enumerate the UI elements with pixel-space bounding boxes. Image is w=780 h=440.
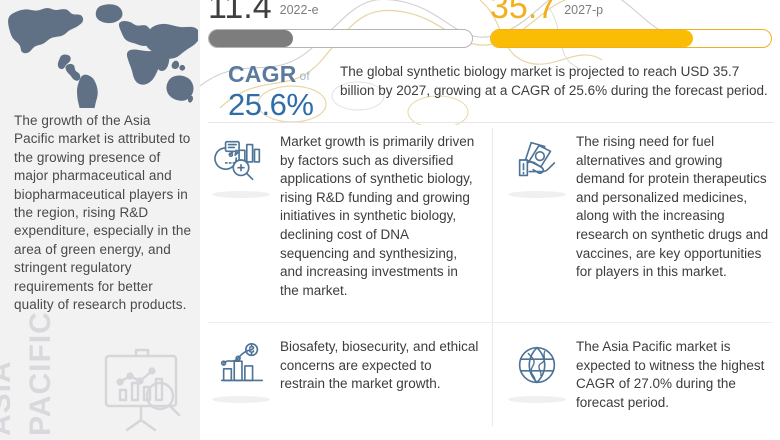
insight-card-region: The Asia Pacific market is expected to w… <box>510 338 772 412</box>
insight-card-region-text: The Asia Pacific market is expected to w… <box>576 338 772 412</box>
insight-card-opportunities: The rising need for fuel alternatives an… <box>510 133 772 282</box>
watermark-word-pacific: PACIFIC <box>24 311 58 436</box>
stat-forecast-value: 35.7 <box>490 0 556 22</box>
progress-bar-forecast-fill <box>491 30 693 47</box>
icon-shadow <box>508 396 566 403</box>
insight-card-restraints: Biosafety, biosecurity, and ethical conc… <box>214 338 479 394</box>
globe-icon <box>510 338 564 392</box>
stat-current-value: 11.4 <box>208 0 272 22</box>
divider-vertical <box>492 128 493 426</box>
right-panel: 11.4 USD BILLION 2022-e 35.7 USD BILLION… <box>200 0 780 440</box>
progress-bar-current <box>208 29 473 48</box>
stat-forecast-year-label: 2027-p <box>564 3 640 17</box>
left-panel-paragraph: The growth of the Asia Pacific market is… <box>14 112 192 314</box>
cagr-block: CAGRof 25.6% <box>228 62 340 121</box>
insight-card-drivers-text: Market growth is primarily driven by fac… <box>280 133 479 300</box>
stat-current-year: 11.4 USD BILLION 2022-e <box>208 0 473 26</box>
market-analysis-percent-icon <box>214 133 268 187</box>
presentation-chart-magnifier-icon <box>92 334 192 434</box>
market-summary-text: The global synthetic biology market is p… <box>340 63 770 100</box>
divider-horizontal-bottom <box>208 322 773 323</box>
world-map-icon <box>2 2 198 108</box>
cagr-of-label: of <box>300 69 310 83</box>
asia-pacific-watermark: ASIA PACIFIC <box>0 320 200 440</box>
cagr-value: 25.6% <box>228 88 340 121</box>
progress-bar-forecast <box>490 29 772 48</box>
icon-shadow <box>508 191 566 198</box>
cagr-label: CAGR <box>228 61 297 87</box>
insight-card-opportunities-text: The rising need for fuel alternatives an… <box>576 133 772 282</box>
stat-forecast-year: 35.7 USD BILLION 2027-p <box>490 0 772 26</box>
divider-horizontal-top <box>208 122 773 123</box>
stat-current-year-label: 2022-e <box>280 3 356 17</box>
left-panel: The growth of the Asia Pacific market is… <box>0 0 200 440</box>
insight-card-restraints-text: Biosafety, biosecurity, and ethical conc… <box>280 338 479 394</box>
icon-shadow <box>212 191 270 198</box>
watermark-word-asia: ASIA <box>0 360 18 436</box>
bar-chart-growth-dollar-icon <box>214 338 268 392</box>
hand-holding-money-icon <box>510 133 564 187</box>
infographic-root: The growth of the Asia Pacific market is… <box>0 0 780 440</box>
icon-shadow <box>212 396 270 403</box>
insight-card-drivers: Market growth is primarily driven by fac… <box>214 133 479 300</box>
progress-bar-current-fill <box>209 30 293 47</box>
